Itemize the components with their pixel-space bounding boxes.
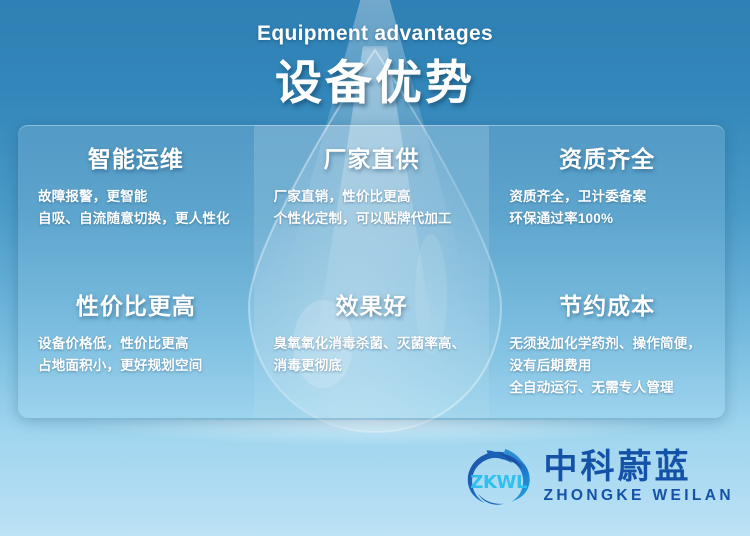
- advantage-title: 智能运维: [38, 147, 234, 172]
- advantage-description: 厂家直销，性价比更高 个性化定制，可以贴牌代加工: [274, 186, 470, 230]
- advantage-cell-1: 智能运维 故障报警，更智能 自吸、自流随意切换，更人性化: [18, 125, 254, 272]
- advantage-line: 无须投加化学药剂、操作简便，: [509, 333, 705, 355]
- advantage-line: 臭氧氧化消毒杀菌、灭菌率高、: [274, 333, 470, 355]
- poster-header: Equipment advantages 设备优势: [0, 0, 750, 106]
- advantage-description: 故障报警，更智能 自吸、自流随意切换，更人性化: [38, 186, 234, 230]
- advantage-line: 没有后期费用: [509, 355, 705, 377]
- advantage-cell-3: 资质齐全 资质齐全，卫计委备案 环保通过率100%: [489, 125, 725, 272]
- subtitle-en: Equipment advantages: [0, 22, 750, 46]
- advantage-line: 个性化定制，可以贴牌代加工: [274, 208, 470, 230]
- svg-text:ZKWL: ZKWL: [471, 472, 528, 493]
- advantage-title: 厂家直供: [274, 147, 470, 172]
- advantage-cell-6: 节约成本 无须投加化学药剂、操作简便， 没有后期费用 全自动运行、无需专人管理: [489, 272, 725, 419]
- advantage-line: 设备价格低，性价比更高: [38, 333, 234, 355]
- advantage-description: 资质齐全，卫计委备案 环保通过率100%: [509, 186, 705, 230]
- logo-wordmark: 中科蔚蓝 ZHONGKE WEILAN: [543, 450, 734, 504]
- advantage-title: 资质齐全: [509, 147, 705, 172]
- advantage-line: 自吸、自流随意切换，更人性化: [38, 208, 234, 230]
- company-logo: ZKWL 中科蔚蓝 ZHONGKE WEILAN: [462, 446, 734, 508]
- company-name-en: ZHONGKE WEILAN: [543, 488, 734, 504]
- company-name-cn: 中科蔚蓝: [543, 450, 734, 484]
- advantage-line: 消毒更彻底: [274, 355, 470, 377]
- advantage-description: 臭氧氧化消毒杀菌、灭菌率高、 消毒更彻底: [274, 333, 470, 377]
- advantages-panel: 智能运维 故障报警，更智能 自吸、自流随意切换，更人性化 厂家直供 厂家直销，性…: [18, 125, 725, 418]
- advantage-title: 性价比更高: [38, 294, 234, 319]
- advantage-cell-2: 厂家直供 厂家直销，性价比更高 个性化定制，可以贴牌代加工: [254, 125, 490, 272]
- advantage-title: 效果好: [274, 294, 470, 319]
- advantage-title: 节约成本: [509, 294, 705, 319]
- dolphin-swirl-icon: ZKWL: [462, 446, 534, 508]
- advantage-cell-5: 效果好 臭氧氧化消毒杀菌、灭菌率高、 消毒更彻底: [254, 272, 490, 419]
- poster-canvas: Equipment advantages 设备优势 智能运维 故障报警，更智能 …: [0, 0, 750, 536]
- advantage-line: 占地面积小，更好规划空间: [38, 355, 234, 377]
- advantage-description: 设备价格低，性价比更高 占地面积小，更好规划空间: [38, 333, 234, 377]
- advantage-cell-4: 性价比更高 设备价格低，性价比更高 占地面积小，更好规划空间: [18, 272, 254, 419]
- page-title: 设备优势: [0, 59, 750, 106]
- advantage-line: 资质齐全，卫计委备案: [509, 186, 705, 208]
- advantage-line: 全自动运行、无需专人管理: [509, 377, 705, 399]
- advantage-line: 厂家直销，性价比更高: [274, 186, 470, 208]
- advantage-line: 故障报警，更智能: [38, 186, 234, 208]
- advantage-description: 无须投加化学药剂、操作简便， 没有后期费用 全自动运行、无需专人管理: [509, 333, 705, 399]
- advantage-line: 环保通过率100%: [509, 208, 705, 230]
